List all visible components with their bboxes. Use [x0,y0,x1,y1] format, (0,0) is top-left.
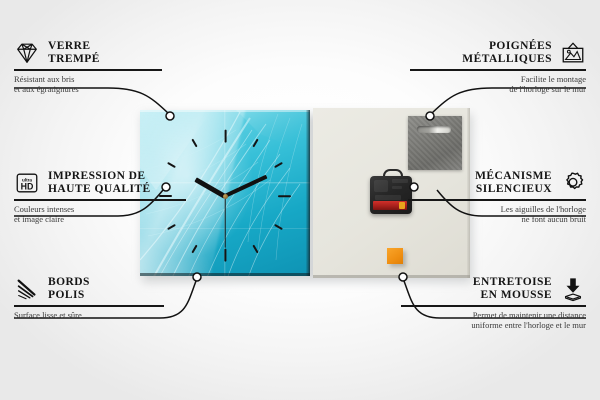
feature-title: ENTRETOISE EN MOUSSE [371,276,552,302]
hour-marker [224,249,226,262]
feature-subtitle-line1: Couleurs intenses [14,204,229,215]
ultra-hd-icon: ultra HD [14,170,40,196]
feature-title: MÉCANISME SILENCIEUX [371,170,552,196]
glass-edge-right [306,110,310,276]
wall-hanger-icon [560,40,586,66]
foam-spacer-icon [560,276,586,302]
hour-marker [167,162,176,168]
hanger-keyhole-slot [417,126,451,133]
feature-divider [14,305,164,307]
feature-title-line2: SILENCIEUX [371,183,552,196]
feature-verre-trempe: VERRE TREMPÉ Résistant aux bris et aux é… [14,40,229,95]
feature-subtitle-line1: Facilite le montage [371,74,586,85]
feature-subtitle: Les aiguilles de l'horloge ne font aucun… [371,204,586,225]
feature-title-line2: POLIS [48,289,90,302]
feature-header: BORDS POLIS [14,276,229,302]
feature-subtitle-line2: ne font aucun bruit [371,214,586,225]
hour-marker [253,245,259,254]
glass-edge-top [140,110,310,112]
feature-title: BORDS POLIS [48,276,90,302]
feature-title-line2: MÉTALLIQUES [371,53,552,66]
hour-marker [274,162,283,168]
feature-title-line1: MÉCANISME [371,170,552,183]
feature-subtitle-line2: et aux égratignures [14,84,229,95]
hour-marker [274,224,283,230]
feature-subtitle-line1: Les aiguilles de l'horloge [371,204,586,215]
gear-icon [560,170,586,196]
feature-title-line1: VERRE [48,40,100,53]
feature-poignees-metalliques: POIGNÉES MÉTALLIQUES Facilite le montage… [371,40,586,95]
feature-title: POIGNÉES MÉTALLIQUES [371,40,552,66]
feature-header: POIGNÉES MÉTALLIQUES [371,40,586,66]
hour-marker [167,224,176,230]
feature-subtitle-line2: uniforme entre l'horloge et le mur [371,320,586,331]
foam-spacer [387,248,403,264]
metal-hanger-plate [408,116,462,170]
feature-divider [14,199,186,201]
polished-edges-icon [14,276,40,302]
feature-subtitle-line1: Permet de maintenir une distance [371,310,586,321]
feature-header: MÉCANISME SILENCIEUX [371,170,586,196]
feature-header: VERRE TREMPÉ [14,40,229,66]
feature-title-line1: POIGNÉES [371,40,552,53]
feature-subtitle: Résistant aux bris et aux égratignures [14,74,229,95]
feature-divider [410,69,586,71]
hour-marker [191,245,197,254]
infographic-canvas: VERRE TREMPÉ Résistant aux bris et aux é… [0,0,600,400]
hour-marker [278,195,291,197]
hour-marker [224,130,226,143]
feature-divider [401,305,586,307]
feature-title-line2: EN MOUSSE [371,289,552,302]
feature-title-line1: ENTRETOISE [371,276,552,289]
feature-entretoise-en-mousse: ENTRETOISE EN MOUSSE Permet de maintenir… [371,276,586,331]
feature-subtitle-line2: de l'horloge sur le mur [371,84,586,95]
feature-bords-polis: BORDS POLIS Surface lisse et sûre [14,276,229,320]
feature-subtitle-line2: et image claire [14,214,229,225]
feature-divider [14,69,162,71]
hour-marker [191,138,197,147]
feature-title-line2: TREMPÉ [48,53,100,66]
feature-title: VERRE TREMPÉ [48,40,100,66]
feature-subtitle: Couleurs intenses et image claire [14,204,229,225]
feature-title-line1: BORDS [48,276,90,289]
feature-title-line2: HAUTE QUALITÉ [48,183,151,196]
ultra-hd-icon-large-text: HD [21,182,34,192]
clock-minute-hand [224,175,267,198]
feature-title: IMPRESSION DE HAUTE QUALITÉ [48,170,151,196]
feature-subtitle-line1: Résistant aux bris [14,74,229,85]
feature-header: ENTRETOISE EN MOUSSE [371,276,586,302]
feature-divider [408,199,586,201]
feature-subtitle: Permet de maintenir une distance uniform… [371,310,586,331]
feature-mecanisme-silencieux: MÉCANISME SILENCIEUX Les aiguilles de l'… [371,170,586,225]
feature-impression-haute-qualite: ultra HD IMPRESSION DE HAUTE QUALITÉ Cou… [14,170,229,225]
feature-title-line1: IMPRESSION DE [48,170,151,183]
diamond-icon [14,40,40,66]
feature-subtitle: Surface lisse et sûre [14,310,229,321]
feature-header: ultra HD IMPRESSION DE HAUTE QUALITÉ [14,170,229,196]
feature-subtitle-line1: Surface lisse et sûre [14,310,229,321]
feature-subtitle: Facilite le montage de l'horloge sur le … [371,74,586,95]
hour-marker [253,138,259,147]
